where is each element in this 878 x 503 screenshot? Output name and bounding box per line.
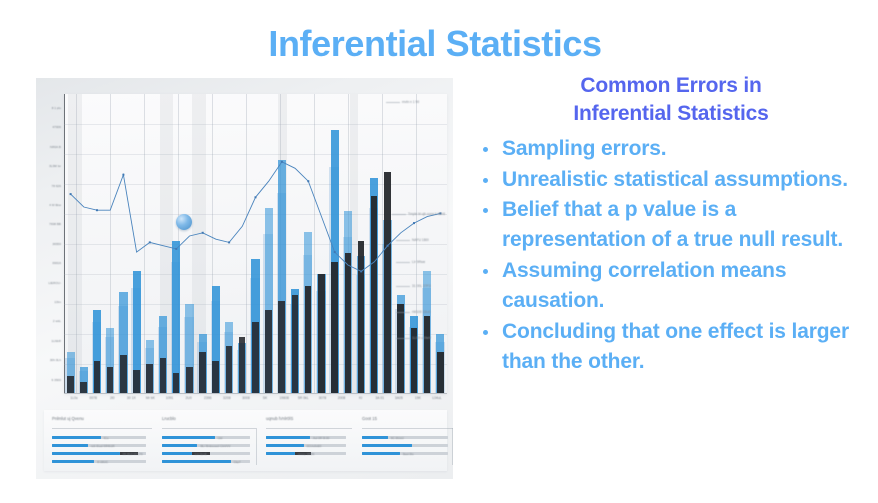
dashboard-cards-panel: Pnlmlut uj QvenulCuncb l0uul 6R4b1R06 4I… [44,410,447,471]
bullet-dot-icon [483,269,488,274]
chart-y-tick-label: 8 1 plu [37,106,61,110]
chart-y-tick-label: 4 M 6bw [37,203,61,207]
chart-x-tick-label: 3078 [319,396,327,400]
errors-bullet-item: Sampling errors. [472,134,870,164]
chart-line-marker [334,251,336,253]
chart-line-marker [281,161,283,163]
errors-bullet-text: Concluding that one effect is larger tha… [502,320,849,373]
chart-x-tick-label: 19608 [279,396,288,400]
dashboard-card-rule [162,428,256,429]
chart-y-tick-label: 2 wkL [37,319,61,323]
dashboard-progress-fill [162,460,231,463]
dashboard-progress-fill [52,452,120,455]
dashboard-progress-bar [362,436,448,439]
errors-panel: Common Errors in Inferential Statistics … [472,72,870,377]
dashboard-card-rule [362,428,453,429]
errors-heading-line-2: Inferential Statistics [486,100,856,128]
chart-x-axis-labels: 1L0u00782l030 1XMr bK10912U0239632083008… [64,396,447,406]
dashboard-progress-label: 0CUu0uE0 [307,444,322,448]
chart-y-tick-label: 36559 [37,242,61,246]
chart-y-tick-label: 78 626 [37,184,61,188]
chart-line-marker [413,222,415,224]
chart-highlight-bubble [176,214,192,230]
dashboard-progress-bar [52,436,146,439]
dashboard-figure: 8 1 plu47006NR0A B3L9M lsr78 6264 M 6bw7… [36,78,453,479]
dashboard-progress-bar [362,444,448,447]
errors-bullet-text: Assuming correlation means causation. [502,259,786,312]
chart-callout-label: mvtn n 1 90 [402,100,419,104]
dashboard-card-divider [256,428,257,465]
chart-line-marker [149,241,151,243]
chart-line-path [71,162,441,272]
chart-y-tick-label: 3L9M lsr [37,164,61,168]
errors-bullet-text: Sampling errors. [502,137,666,160]
chart-x-tick-label: Mr bK [146,396,155,400]
dashboard-progress-label: lCu [104,436,109,440]
errors-heading: Common Errors in Inferential Statistics [472,72,870,128]
chart-x-tick-label: 2396 [204,396,212,400]
chart-line-marker [360,270,362,272]
dashboard-progress-label: 9lLl I9nlcuoocl ClnVVV [200,444,230,448]
chart-x-tick-label: 5R 0kL [298,396,309,400]
errors-bullet-text: Belief that a p value is a representatio… [502,198,843,251]
dashboard-progress-label: nnucy 9R9N [298,452,315,456]
errors-bullet-text: Unrealistic statistical assumptions. [502,168,848,191]
dashboard-card-heading: Lrucblo [162,416,176,421]
dashboard-progress-bar [266,436,346,439]
dashboard-progress-fill [52,436,101,439]
chart-y-axis-labels: 8 1 plu47006NR0A B3L9M lsr78 6264 M 6bw7… [36,94,64,394]
errors-bullet-item: Assuming correlation means causation. [472,256,870,316]
chart-x-tick-label: 19K [415,396,421,400]
chart-y-tick-label: NR0A B [37,145,61,149]
chart-y-tick-label: 47006 [37,125,61,129]
bullet-dot-icon [483,147,488,152]
chart-x-tick-label: 3A 01 [375,396,384,400]
dashboard-progress-fill [266,452,295,455]
bullet-dot-icon [483,208,488,213]
chart-callout-label: 31 00L 37P3 [412,284,431,288]
dashboard-progress-fill [266,444,304,447]
chart-callout-label: 1L00I u 0lwV [412,336,431,340]
chart-x-tick-label: 3008 [242,396,250,400]
dashboard-progress-fill [52,444,88,447]
chart-line-marker [387,245,389,247]
chart-line-marker [228,241,230,243]
chart-x-tick-label: 2008 [338,396,346,400]
chart-x-tick-label: 30 1X [127,396,136,400]
errors-bullet-item: Concluding that one effect is larger tha… [472,317,870,377]
dashboard-progress-label: 9uut 0lu [403,452,414,456]
errors-bullet-item: Unrealistic statistical assumptions. [472,165,870,195]
chart-x-tick-label: 0078 [89,396,97,400]
chart-x-tick-label: L04uL [432,396,441,400]
chart-x-tick-label: KI [359,396,362,400]
chart-x-tick-label: SK [263,396,268,400]
chart-y-tick-label: 13lm [37,300,61,304]
dashboard-card-divider [452,428,453,465]
chart-line-marker [307,180,309,182]
dashboard-progress-fill [362,444,412,447]
chart-plot-area [64,94,447,394]
page-title: Inferential Statistics [0,24,870,64]
dashboard-progress-bar [162,436,250,439]
dashboard-card-heading: Goot 15 [362,416,377,421]
chart-x-tick-label: 3A05 [395,396,403,400]
dashboard-progress-fill [162,436,215,439]
bullet-dot-icon [483,178,488,183]
chart-callout-label: LIr 9Rwe [412,260,425,264]
dashboard-card-rule [52,428,152,429]
chart-line-marker [96,209,98,211]
chart-x-tick-label: 1091 [166,396,174,400]
dashboard-illustration: 8 1 plu47006NR0A B3L9M lsr78 6264 M 6bw7… [36,78,453,479]
dashboard-card-heading: Pnlmlut uj Qvenu [52,416,84,421]
chart-y-tick-label: 1LNbR [37,339,61,343]
chart-line-marker [70,193,72,195]
chart-line-marker [255,196,257,198]
chart-x-tick-label: 2U0 [186,396,192,400]
dashboard-card-heading: uqnub lVnlr0lS [266,416,293,421]
chart-x-tick-label: 3208 [223,396,231,400]
dashboard-progress-label: Aul 0R 0l.00 [313,436,329,440]
dashboard-progress-label: Ckp7 [234,460,241,464]
dashboard-progress-fill [266,436,310,439]
dashboard-progress-label: 9C 0lUuU [391,436,404,440]
chart-callout-label: Tmple bl ujb cone b 98h6 [408,212,445,216]
chart-x-tick-label: 2l0 [110,396,115,400]
dashboard-progress-fill [362,436,388,439]
chart-y-tick-label: LIEROU- [37,281,61,285]
errors-heading-line-1: Common Errors in [486,72,856,100]
chart-callout-label: NAFU 1B0I [412,238,429,242]
errors-bullet-item: Belief that a p value is a representatio… [472,195,870,255]
dashboard-progress-label: 8 lJ0UC [97,460,108,464]
chart-x-tick-label: 1L0u [70,396,78,400]
dashboard-progress-fill [162,444,197,447]
dashboard-progress-fill [162,452,192,455]
bullet-dot-icon [483,330,488,335]
dashboard-card-rule [266,428,352,429]
dashboard-progress-label: Lm 0pnE [195,452,207,456]
chart-callout-label: rW100 1Bu6 [412,310,430,314]
chart-line-marker [175,248,177,250]
dashboard-progress-fill [52,460,94,463]
dashboard-progress-label: ncb l0uul 6R4b1R [91,444,115,448]
chart-y-tick-label: 09016 [37,261,61,265]
chart-line-marker [122,174,124,176]
chart-y-tick-label: 30h 0Lh [37,358,61,362]
chart-y-tick-label: 9 3500 [37,378,61,382]
dashboard-progress-label: 06 4IL0 M7170 [123,452,143,456]
chart-line-marker [202,232,204,234]
chart-line-series [64,94,447,394]
dashboard-progress-label: lJul [218,436,223,440]
errors-bullet-list: Sampling errors.Unrealistic statistical … [472,134,870,377]
chart-y-tick-label: 7698 BB [37,222,61,226]
dashboard-progress-fill [362,452,400,455]
